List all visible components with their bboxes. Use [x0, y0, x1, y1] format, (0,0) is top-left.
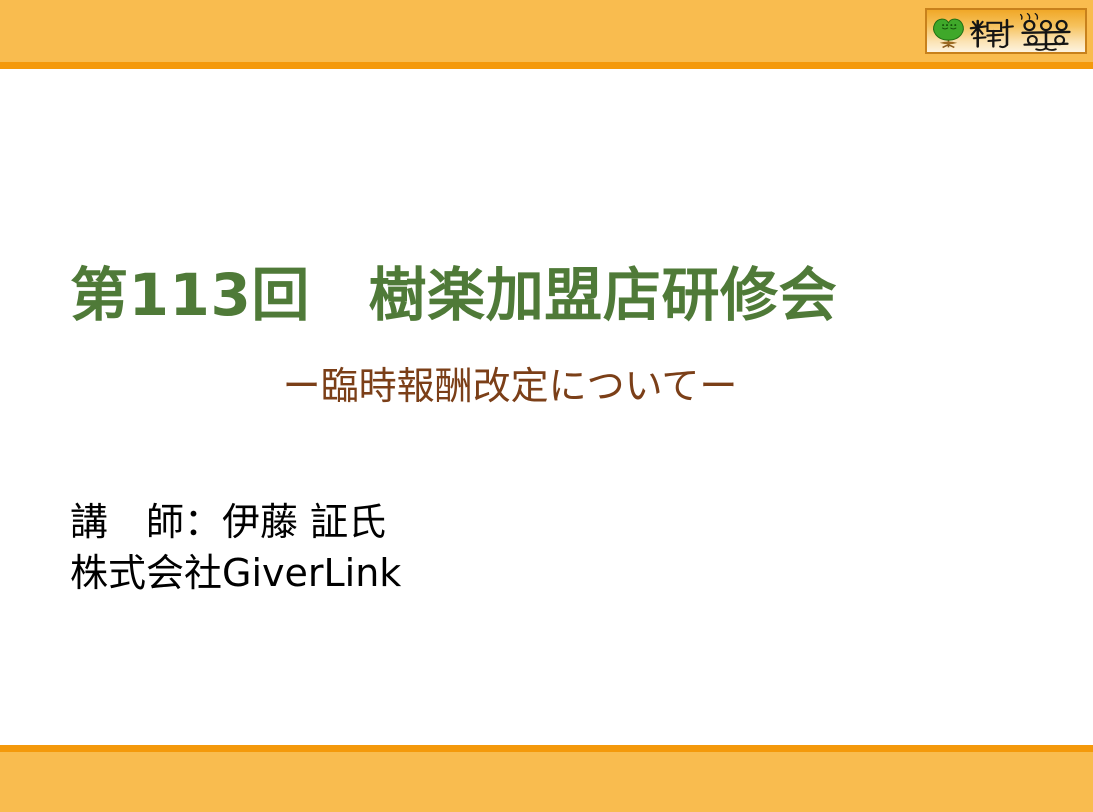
speaker-company-line: 株式会社GiverLink — [70, 548, 970, 599]
speaker-name-line: 講 師：伊藤 証氏 — [70, 497, 970, 548]
furigana-marks — [1021, 14, 1038, 19]
speaker-block: 講 師：伊藤 証氏 株式会社GiverLink — [70, 497, 970, 598]
slide-title: 第113回 樹楽加盟店研修会 — [70, 263, 1030, 328]
juraku-logo-svg — [927, 10, 1085, 52]
tree-heart-icon — [934, 19, 964, 47]
kanji-ju-glyph — [971, 20, 1013, 47]
bottom-accent-rule — [0, 745, 1093, 752]
bottom-decorative-band — [0, 752, 1093, 812]
slide-subtitle: ー臨時報酬改定についてー — [0, 364, 1020, 410]
kanji-raku-glyph — [1023, 21, 1070, 50]
top-accent-rule — [0, 62, 1093, 69]
juraku-logo — [925, 8, 1087, 54]
presentation-slide: 第113回 樹楽加盟店研修会 ー臨時報酬改定についてー 講 師：伊藤 証氏 株式… — [0, 0, 1093, 812]
